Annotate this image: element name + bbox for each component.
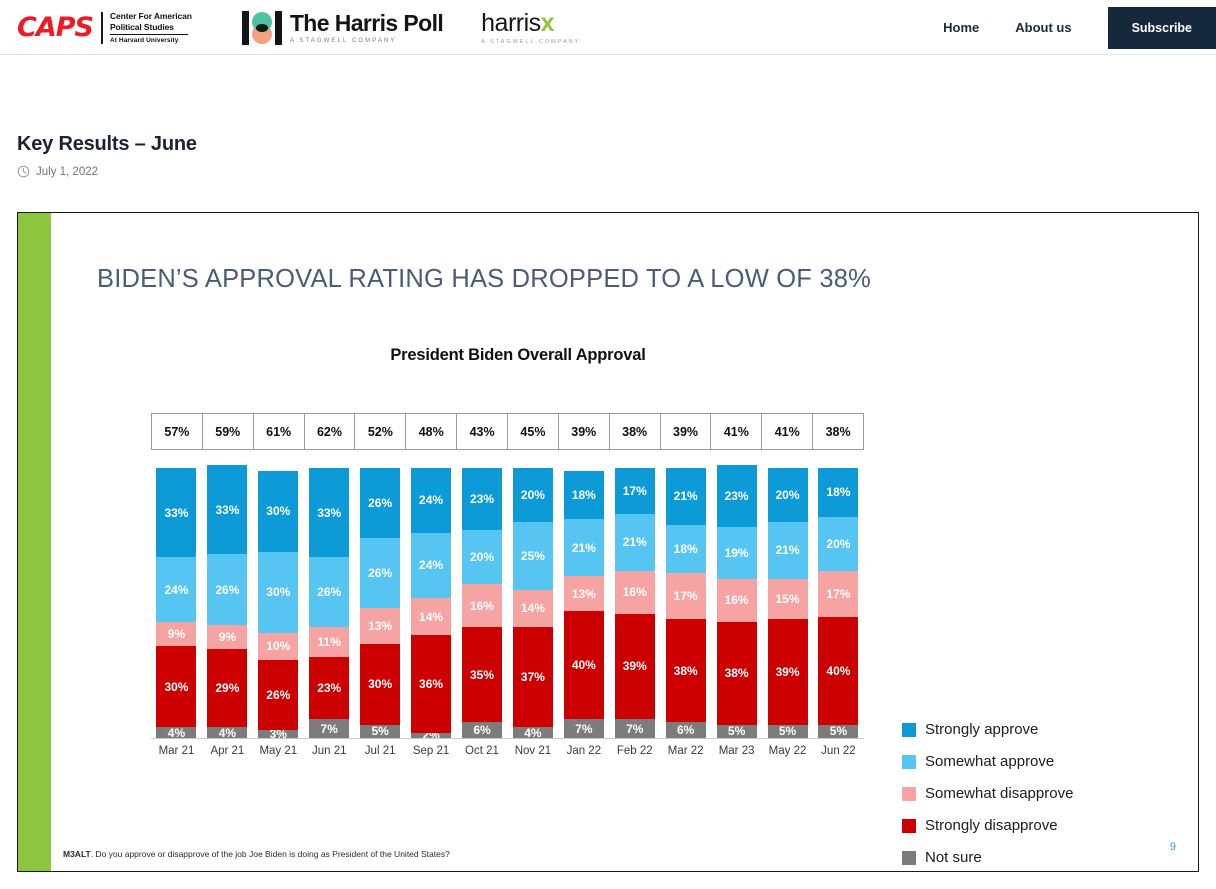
bar-segment: 40%: [818, 617, 858, 725]
bar-column: 23%20%16%35%6%: [457, 460, 508, 738]
bar-stack: 33%26%9%29%4%: [207, 465, 247, 738]
bar-segment: 40%: [564, 611, 604, 719]
bar-segment: 20%: [768, 468, 808, 522]
x-axis-label: May 21: [253, 745, 304, 757]
totals-row: 57%59%61%62%52%48%43%45%39%38%39%41%41%3…: [151, 413, 864, 450]
bar-segment: 17%: [615, 468, 655, 514]
legend-item[interactable]: Strongly approve: [902, 721, 1073, 738]
bar-stack: 18%20%17%40%5%: [818, 468, 858, 738]
harrisx-wordmark: harrisx: [481, 10, 580, 36]
legend-swatch: [902, 723, 916, 737]
harrisx-logo[interactable]: harrisx A STAGWELL COMPANY: [481, 10, 580, 45]
x-axis-label: Mar 23: [711, 745, 762, 757]
bar-stack: 21%18%17%38%6%: [666, 468, 706, 738]
subscribe-button[interactable]: Subscribe: [1108, 7, 1216, 49]
bar-segment: 21%: [666, 468, 706, 525]
page-title: Key Results – June: [17, 133, 1216, 156]
chart-title: President Biden Overall Approval: [18, 346, 1198, 365]
harris-poll-sub: A STAGWELL COMPANY: [290, 38, 443, 44]
bar-segment: 24%: [156, 557, 196, 622]
bar-stack: 26%26%13%30%5%: [360, 468, 400, 738]
legend-label: Strongly approve: [925, 721, 1038, 738]
total-approve-cell: 52%: [355, 414, 406, 449]
bar-segment: 18%: [666, 525, 706, 574]
harris-poll-logo[interactable]: The Harris Poll A STAGWELL COMPANY: [242, 11, 443, 45]
legend-swatch: [902, 819, 916, 833]
bar-column: 20%25%14%37%4%: [507, 460, 558, 738]
bar-column: 18%21%13%40%7%: [558, 460, 609, 738]
bar-segment: 18%: [564, 471, 604, 520]
post-meta: July 1, 2022: [17, 165, 1216, 178]
legend-item[interactable]: Strongly disapprove: [902, 817, 1073, 834]
legend-swatch: [902, 787, 916, 801]
total-approve-cell: 41%: [711, 414, 762, 449]
slide-container: BIDEN’S APPROVAL RATING HAS DROPPED TO A…: [17, 212, 1199, 872]
bar-column: 33%24%9%30%4%: [151, 460, 202, 738]
legend-label: Strongly disapprove: [925, 817, 1058, 834]
bar-segment: 33%: [207, 465, 247, 554]
bar-segment: 16%: [462, 584, 502, 627]
x-axis-label: Mar 22: [660, 745, 711, 757]
bar-column: 24%24%14%36%2%: [406, 460, 457, 738]
caps-logo[interactable]: CAPS Center For American Political Studi…: [17, 11, 192, 43]
harris-poll-wordmark: The Harris Poll: [290, 11, 443, 35]
bar-segment: 33%: [309, 468, 349, 557]
bar-segment: 2%: [411, 733, 451, 738]
total-approve-cell: 38%: [610, 414, 661, 449]
caps-tagline-line1: Center For American: [110, 11, 192, 21]
total-approve-cell: 39%: [661, 414, 712, 449]
bar-column: 17%21%16%39%7%: [609, 460, 660, 738]
x-axis-line: [151, 738, 864, 739]
bar-segment: 20%: [513, 468, 553, 522]
total-approve-cell: 43%: [457, 414, 508, 449]
bar-segment: 30%: [258, 471, 298, 552]
bar-segment: 38%: [666, 619, 706, 722]
slide-headline: BIDEN’S APPROVAL RATING HAS DROPPED TO A…: [97, 265, 871, 294]
bar-stack: 18%21%13%40%7%: [564, 471, 604, 738]
bar-segment: 7%: [309, 719, 349, 738]
bar-segment: 7%: [615, 719, 655, 738]
legend-label: Not sure: [925, 849, 982, 866]
bar-segment: 26%: [360, 538, 400, 608]
bar-segment: 25%: [513, 522, 553, 590]
bar-segment: 17%: [666, 573, 706, 619]
bar-segment: 4%: [513, 727, 553, 738]
bar-segment: 11%: [309, 627, 349, 657]
legend-label: Somewhat approve: [925, 753, 1054, 770]
bar-segment: 15%: [768, 579, 808, 620]
bar-column: 30%30%10%26%3%: [253, 460, 304, 738]
bar-segment: 13%: [360, 608, 400, 643]
bar-stack: 24%24%14%36%2%: [411, 468, 451, 738]
legend-label: Somewhat disapprove: [925, 785, 1073, 802]
site-header: CAPS Center For American Political Studi…: [0, 0, 1216, 55]
bar-column: 18%20%17%40%5%: [813, 460, 864, 738]
post-header: Key Results – June July 1, 2022: [17, 133, 1216, 178]
caps-tagline: Center For American Political Studies At…: [110, 11, 192, 43]
legend-item[interactable]: Somewhat disapprove: [902, 785, 1073, 802]
total-approve-cell: 38%: [813, 414, 864, 449]
bar-segment: 21%: [564, 519, 604, 576]
legend-item[interactable]: Somewhat approve: [902, 753, 1073, 770]
total-approve-cell: 62%: [305, 414, 356, 449]
footnote-code: M3ALT: [63, 849, 91, 859]
bars-row: 33%24%9%30%4%33%26%9%29%4%30%30%10%26%3%…: [151, 460, 864, 738]
total-approve-cell: 59%: [203, 414, 254, 449]
bar-segment: 18%: [818, 468, 858, 517]
logo-group: CAPS Center For American Political Studi…: [0, 0, 580, 55]
bar-stack: 23%20%16%35%6%: [462, 468, 502, 738]
bar-segment: 16%: [615, 571, 655, 614]
bar-segment: 26%: [207, 554, 247, 624]
caps-wordmark: CAPS: [17, 14, 93, 41]
slide-page-number: 9: [1170, 841, 1176, 853]
x-axis-label: Jul 21: [355, 745, 406, 757]
bar-segment: 23%: [462, 468, 502, 530]
caps-tagline-line2: Political Studies: [110, 22, 192, 32]
slide-accent-bar: [18, 213, 51, 872]
bar-stack: 23%19%16%38%5%: [717, 465, 757, 738]
bar-segment: 20%: [462, 530, 502, 584]
legend-item[interactable]: Not sure: [902, 849, 1073, 866]
x-axis-label: Jun 21: [304, 745, 355, 757]
x-axis-labels: Mar 21Apr 21May 21Jun 21Jul 21Sep 21Oct …: [151, 745, 864, 757]
bar-segment: 5%: [818, 725, 858, 739]
x-axis-label: Jun 22: [813, 745, 864, 757]
bar-segment: 21%: [615, 514, 655, 571]
footnote: M3ALT. Do you approve or disapprove of t…: [63, 849, 450, 859]
bar-segment: 39%: [615, 614, 655, 719]
total-approve-cell: 48%: [406, 414, 457, 449]
x-axis-label: Sep 21: [406, 745, 457, 757]
bar-segment: 26%: [360, 468, 400, 538]
bar-segment: 30%: [156, 646, 196, 727]
nav-link-home[interactable]: Home: [943, 20, 979, 35]
main-nav: Home About us Subscribe: [943, 0, 1216, 55]
x-axis-label: Mar 21: [151, 745, 202, 757]
bar-column: 21%18%17%38%6%: [660, 460, 711, 738]
bar-segment: 14%: [411, 598, 451, 636]
bar-segment: 23%: [309, 657, 349, 719]
bar-segment: 14%: [513, 590, 553, 628]
x-axis-label: Jan 22: [558, 745, 609, 757]
bar-segment: 20%: [818, 517, 858, 571]
bar-segment: 23%: [717, 465, 757, 527]
x-axis-label: May 22: [762, 745, 813, 757]
bar-stack: 30%30%10%26%3%: [258, 471, 298, 738]
bar-segment: 36%: [411, 635, 451, 732]
bar-stack: 17%21%16%39%7%: [615, 468, 655, 738]
bar-segment: 21%: [768, 522, 808, 579]
footnote-text: . Do you approve or disapprove of the jo…: [91, 849, 450, 859]
bar-segment: 29%: [207, 649, 247, 727]
harrisx-sub: A STAGWELL COMPANY: [481, 39, 580, 45]
bar-segment: 37%: [513, 627, 553, 727]
legend-swatch: [902, 755, 916, 769]
bar-segment: 30%: [258, 552, 298, 633]
stacked-bar-chart: 57%59%61%62%52%48%43%45%39%38%39%41%41%3…: [151, 413, 864, 758]
bar-stack: 20%21%15%39%5%: [768, 468, 808, 738]
post-date: July 1, 2022: [36, 166, 98, 178]
bar-segment: 4%: [156, 727, 196, 738]
bar-segment: 17%: [818, 571, 858, 617]
bar-segment: 13%: [564, 576, 604, 611]
harrisx-x-glyph: x: [541, 9, 554, 37]
bar-stack: 33%26%11%23%7%: [309, 468, 349, 738]
caps-divider: [101, 12, 103, 44]
total-approve-cell: 57%: [152, 414, 203, 449]
bar-segment: 9%: [207, 625, 247, 649]
bar-column: 20%21%15%39%5%: [762, 460, 813, 738]
bar-column: 33%26%9%29%4%: [202, 460, 253, 738]
clock-icon: [17, 165, 30, 178]
bar-column: 33%26%11%23%7%: [304, 460, 355, 738]
bar-segment: 26%: [258, 660, 298, 730]
bar-column: 26%26%13%30%5%: [355, 460, 406, 738]
bar-stack: 33%24%9%30%4%: [156, 468, 196, 738]
bar-segment: 26%: [309, 557, 349, 627]
legend-swatch: [902, 851, 916, 865]
x-axis-label: Feb 22: [609, 745, 660, 757]
bar-segment: 5%: [717, 725, 757, 739]
caps-tagline-line3: At Harvard University: [110, 37, 192, 44]
bar-segment: 6%: [462, 722, 502, 738]
bar-segment: 39%: [768, 619, 808, 724]
bar-segment: 5%: [768, 725, 808, 739]
total-approve-cell: 39%: [559, 414, 610, 449]
chart-legend: Strongly approveSomewhat approveSomewhat…: [902, 721, 1073, 872]
x-axis-label: Nov 21: [507, 745, 558, 757]
bar-segment: 38%: [717, 622, 757, 725]
bar-segment: 10%: [258, 633, 298, 660]
bar-segment: 16%: [717, 579, 757, 622]
bar-segment: 7%: [564, 719, 604, 738]
nav-link-about-us[interactable]: About us: [1015, 20, 1071, 35]
bar-segment: 33%: [156, 468, 196, 557]
bar-segment: 19%: [717, 527, 757, 578]
bar-column: 23%19%16%38%5%: [711, 460, 762, 738]
bar-segment: 4%: [207, 727, 247, 738]
bar-segment: 24%: [411, 533, 451, 598]
caps-rule: [110, 34, 188, 35]
total-approve-cell: 41%: [762, 414, 813, 449]
bar-segment: 3%: [258, 730, 298, 738]
bar-segment: 5%: [360, 725, 400, 739]
bar-segment: 30%: [360, 644, 400, 725]
harris-poll-face-icon: [242, 11, 282, 45]
total-approve-cell: 45%: [508, 414, 559, 449]
bar-segment: 6%: [666, 722, 706, 738]
bar-segment: 24%: [411, 468, 451, 533]
x-axis-label: Apr 21: [202, 745, 253, 757]
total-approve-cell: 61%: [254, 414, 305, 449]
bar-segment: 35%: [462, 627, 502, 722]
x-axis-label: Oct 21: [457, 745, 508, 757]
bar-stack: 20%25%14%37%4%: [513, 468, 553, 738]
bar-segment: 9%: [156, 622, 196, 646]
